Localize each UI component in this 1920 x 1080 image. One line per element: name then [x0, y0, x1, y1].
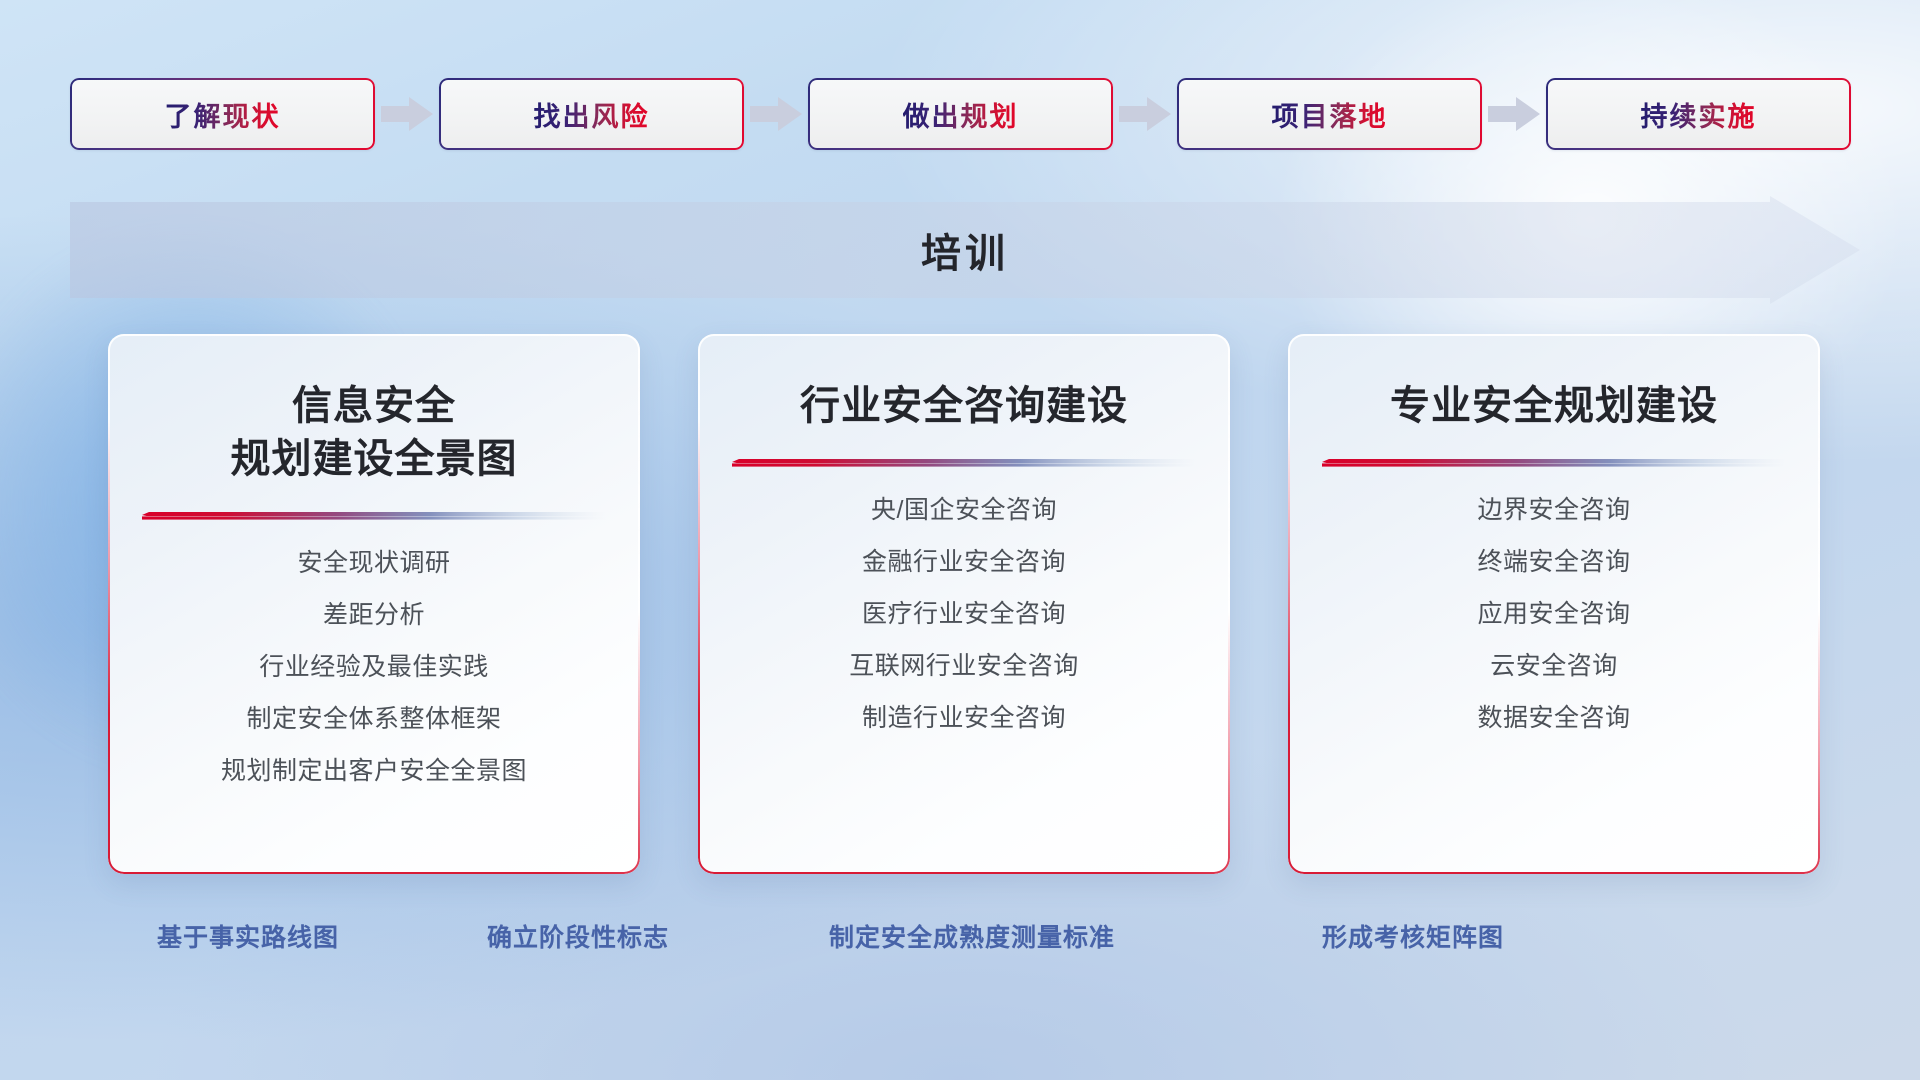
flow-arrow-2: [744, 94, 808, 134]
list-item: 金融行业安全咨询: [732, 550, 1196, 575]
card-3[interactable]: 专业安全规划建设: [1288, 334, 1820, 874]
list-item: 云安全咨询: [1322, 654, 1786, 679]
list-item: 应用安全咨询: [1322, 602, 1786, 627]
list-item: 终端安全咨询: [1322, 550, 1786, 575]
flow-step-label: 了解现状: [165, 95, 281, 134]
flow-step-label: 项目落地: [1272, 95, 1388, 134]
card-divider: [142, 512, 606, 521]
card-2[interactable]: 行业安全咨询建设: [698, 334, 1230, 874]
list-item: 互联网行业安全咨询: [732, 654, 1196, 679]
list-item: 边界安全咨询: [1322, 498, 1786, 523]
training-banner-label: 培训: [70, 196, 1860, 304]
flow-arrow-4: [1482, 94, 1546, 134]
flow-step-1[interactable]: 了解现状: [70, 78, 375, 150]
card-title: 信息安全 规划建设全景图: [231, 380, 518, 486]
flow-step-2[interactable]: 找出风险: [439, 78, 744, 150]
list-item: 央/国企安全咨询: [732, 498, 1196, 523]
card-item-list: 安全现状调研 差距分析 行业经验及最佳实践 制定安全体系整体框架 规划制定出客户…: [142, 551, 606, 784]
card-title: 行业安全咨询建设: [800, 380, 1128, 433]
flow-step-label: 持续实施: [1641, 95, 1757, 134]
card-item-list: 边界安全咨询 终端安全咨询 应用安全咨询 云安全咨询 数据安全咨询: [1322, 498, 1786, 731]
list-item: 制定安全体系整体框架: [142, 707, 606, 732]
card-divider: [1322, 459, 1786, 468]
list-item: 规划制定出客户安全全景图: [142, 759, 606, 784]
footer-label-2: 确立阶段性标志: [487, 918, 669, 954]
flow-step-label: 做出规划: [903, 95, 1019, 134]
cards-row: 信息安全 规划建设全景图: [108, 334, 1820, 874]
training-banner: 培训: [70, 196, 1860, 304]
slide-canvas: 了解现状 找出风险 做出规划 项目落地: [0, 0, 1920, 1080]
list-item: 制造行业安全咨询: [732, 706, 1196, 731]
flow-arrow-3: [1113, 94, 1177, 134]
card-title: 专业安全规划建设: [1390, 380, 1718, 433]
footer-label-row: 基于事实路线图 确立阶段性标志 制定安全成熟度测量标准 形成考核矩阵图: [0, 918, 1920, 958]
process-flow-row: 了解现状 找出风险 做出规划 项目落地: [70, 78, 1860, 150]
flow-step-label: 找出风险: [534, 95, 650, 134]
list-item: 安全现状调研: [142, 551, 606, 576]
footer-label-1: 基于事实路线图: [157, 918, 339, 954]
card-divider: [732, 459, 1196, 468]
footer-label-3: 制定安全成熟度测量标准: [829, 918, 1115, 954]
list-item: 差距分析: [142, 603, 606, 628]
flow-step-4[interactable]: 项目落地: [1177, 78, 1482, 150]
list-item: 医疗行业安全咨询: [732, 602, 1196, 627]
card-1[interactable]: 信息安全 规划建设全景图: [108, 334, 640, 874]
flow-step-3[interactable]: 做出规划: [808, 78, 1113, 150]
flow-arrow-1: [375, 94, 439, 134]
footer-label-4: 形成考核矩阵图: [1322, 918, 1504, 954]
card-item-list: 央/国企安全咨询 金融行业安全咨询 医疗行业安全咨询 互联网行业安全咨询 制造行…: [732, 498, 1196, 731]
list-item: 行业经验及最佳实践: [142, 655, 606, 680]
list-item: 数据安全咨询: [1322, 706, 1786, 731]
flow-step-5[interactable]: 持续实施: [1546, 78, 1851, 150]
